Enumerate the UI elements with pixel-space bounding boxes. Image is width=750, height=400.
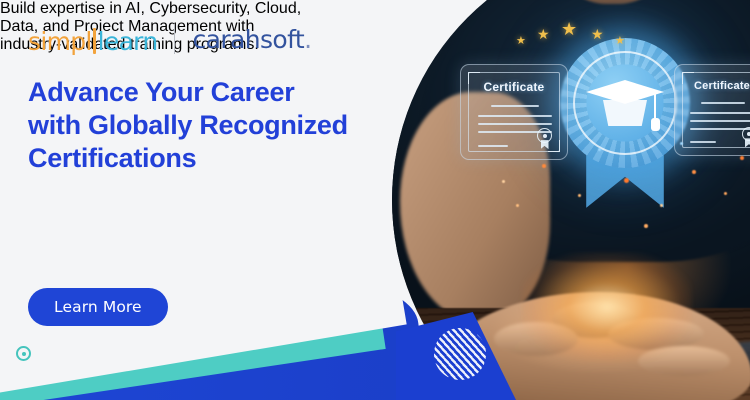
certificate-line [478,115,552,117]
star-icon: ★ [537,27,550,41]
headline-line-3: Certifications [28,142,408,175]
certificate-card-left: Certificate [460,64,568,160]
simplilearn-logo-bar [93,28,96,54]
content-column: simpllearn carahsoft. Advance Your Caree… [0,0,420,400]
graduation-cap-icon [586,80,664,134]
certificate-seal-icon [537,128,552,143]
certificate-title: Certificate [675,80,750,92]
badge-rosette [560,38,690,168]
page-title: Advance Your Career with Globally Recogn… [28,76,408,175]
simplilearn-logo-part2: learn [98,29,158,54]
certificate-line [701,102,745,104]
certificate-line [478,123,552,125]
certificate-card-right: Certificate [674,64,750,156]
star-icon: ★ [615,36,625,47]
logo-lockup: simpllearn carahsoft. [28,24,311,54]
certificate-seal-icon [742,127,750,141]
certificate-line [491,105,539,107]
star-icon: ★ [561,20,577,38]
certificate-line [690,128,750,130]
warm-glow [522,252,692,362]
carahsoft-logo-text: carahsoft [192,25,304,54]
star-icon: ★ [591,27,604,41]
carahsoft-logo-period: . [304,25,311,54]
certification-badge [560,38,690,213]
headline-line-1: Advance Your Career [28,76,408,109]
carahsoft-logo[interactable]: carahsoft. [192,27,311,52]
star-icon: ★ [516,36,526,47]
certificate-title: Certificate [461,80,567,94]
certificate-line [690,141,716,143]
subtitle-line-1: Build expertise in AI, Cybersecurity, Cl… [0,0,420,18]
hatched-circle-decoration [434,328,486,380]
certificate-line [690,120,750,122]
certificate-line [690,112,750,114]
simplilearn-logo[interactable]: simpllearn [28,24,157,54]
promo-banner: ★ ★ ★ ★ ★ Certificate Certificate [0,0,750,400]
certificate-line [478,145,508,147]
logo-divider [174,24,175,54]
headline-line-2: with Globally Recognized [28,109,408,142]
star-rating: ★ ★ ★ ★ ★ [516,16,634,50]
simplilearn-logo-part1: simpl [28,29,92,54]
learn-more-button[interactable]: Learn More [28,288,168,326]
